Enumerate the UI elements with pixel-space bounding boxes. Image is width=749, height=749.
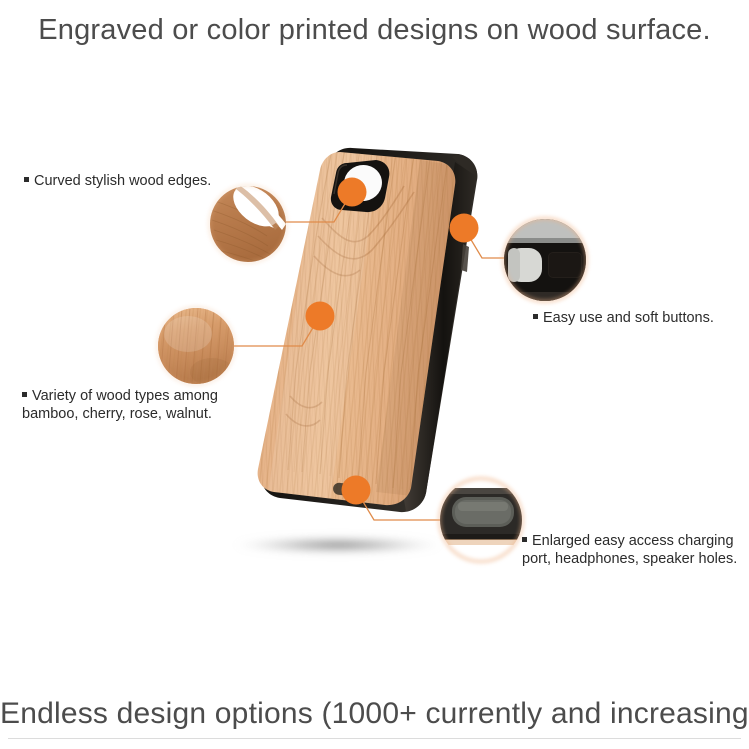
callout-text-wood-types-line1: Variety of wood types among bbox=[32, 388, 218, 404]
phone-drop-shadow bbox=[234, 536, 442, 554]
callout-label-charging-port: Enlarged easy access charging port, head… bbox=[522, 533, 747, 568]
callout-label-wood-types: Variety of wood types among bamboo, cher… bbox=[22, 388, 262, 423]
hotspot-dot-curved-edges[interactable] bbox=[338, 178, 367, 207]
bullet-icon bbox=[522, 537, 527, 542]
callout-text-soft-buttons-line1: Easy use and soft buttons. bbox=[543, 310, 714, 326]
product-illustration bbox=[0, 0, 749, 749]
bullet-icon bbox=[533, 314, 538, 319]
detail-circle-wood-types bbox=[158, 308, 235, 387]
detail-circle-charging-port bbox=[440, 479, 523, 562]
bullet-icon bbox=[24, 177, 29, 182]
callout-text-charging-port-line1: Enlarged easy access charging bbox=[532, 533, 734, 549]
callout-text-charging-port-line2: port, headphones, speaker holes. bbox=[522, 551, 737, 567]
callout-text-wood-types-line2: bamboo, cherry, rose, walnut. bbox=[22, 406, 212, 422]
callout-text-curved-edges-line1: Curved stylish wood edges. bbox=[34, 173, 211, 189]
page-title-bottom: Endless design options (1000+ currently … bbox=[0, 697, 749, 731]
detail-circle-soft-buttons bbox=[504, 219, 587, 302]
hotspot-dot-wood-types[interactable] bbox=[306, 302, 335, 331]
callout-label-curved-edges: Curved stylish wood edges. bbox=[24, 173, 211, 191]
callout-label-soft-buttons: Easy use and soft buttons. bbox=[533, 310, 714, 328]
hotspot-dot-soft-buttons[interactable] bbox=[450, 214, 479, 243]
detail-circle-curved-edges bbox=[210, 177, 287, 264]
wooden-phone-case-infographic: Engraved or color printed designs on woo… bbox=[0, 0, 749, 749]
hotspot-dot-charging-port[interactable] bbox=[342, 476, 371, 505]
bottom-divider bbox=[8, 738, 741, 739]
bullet-icon bbox=[22, 392, 27, 397]
